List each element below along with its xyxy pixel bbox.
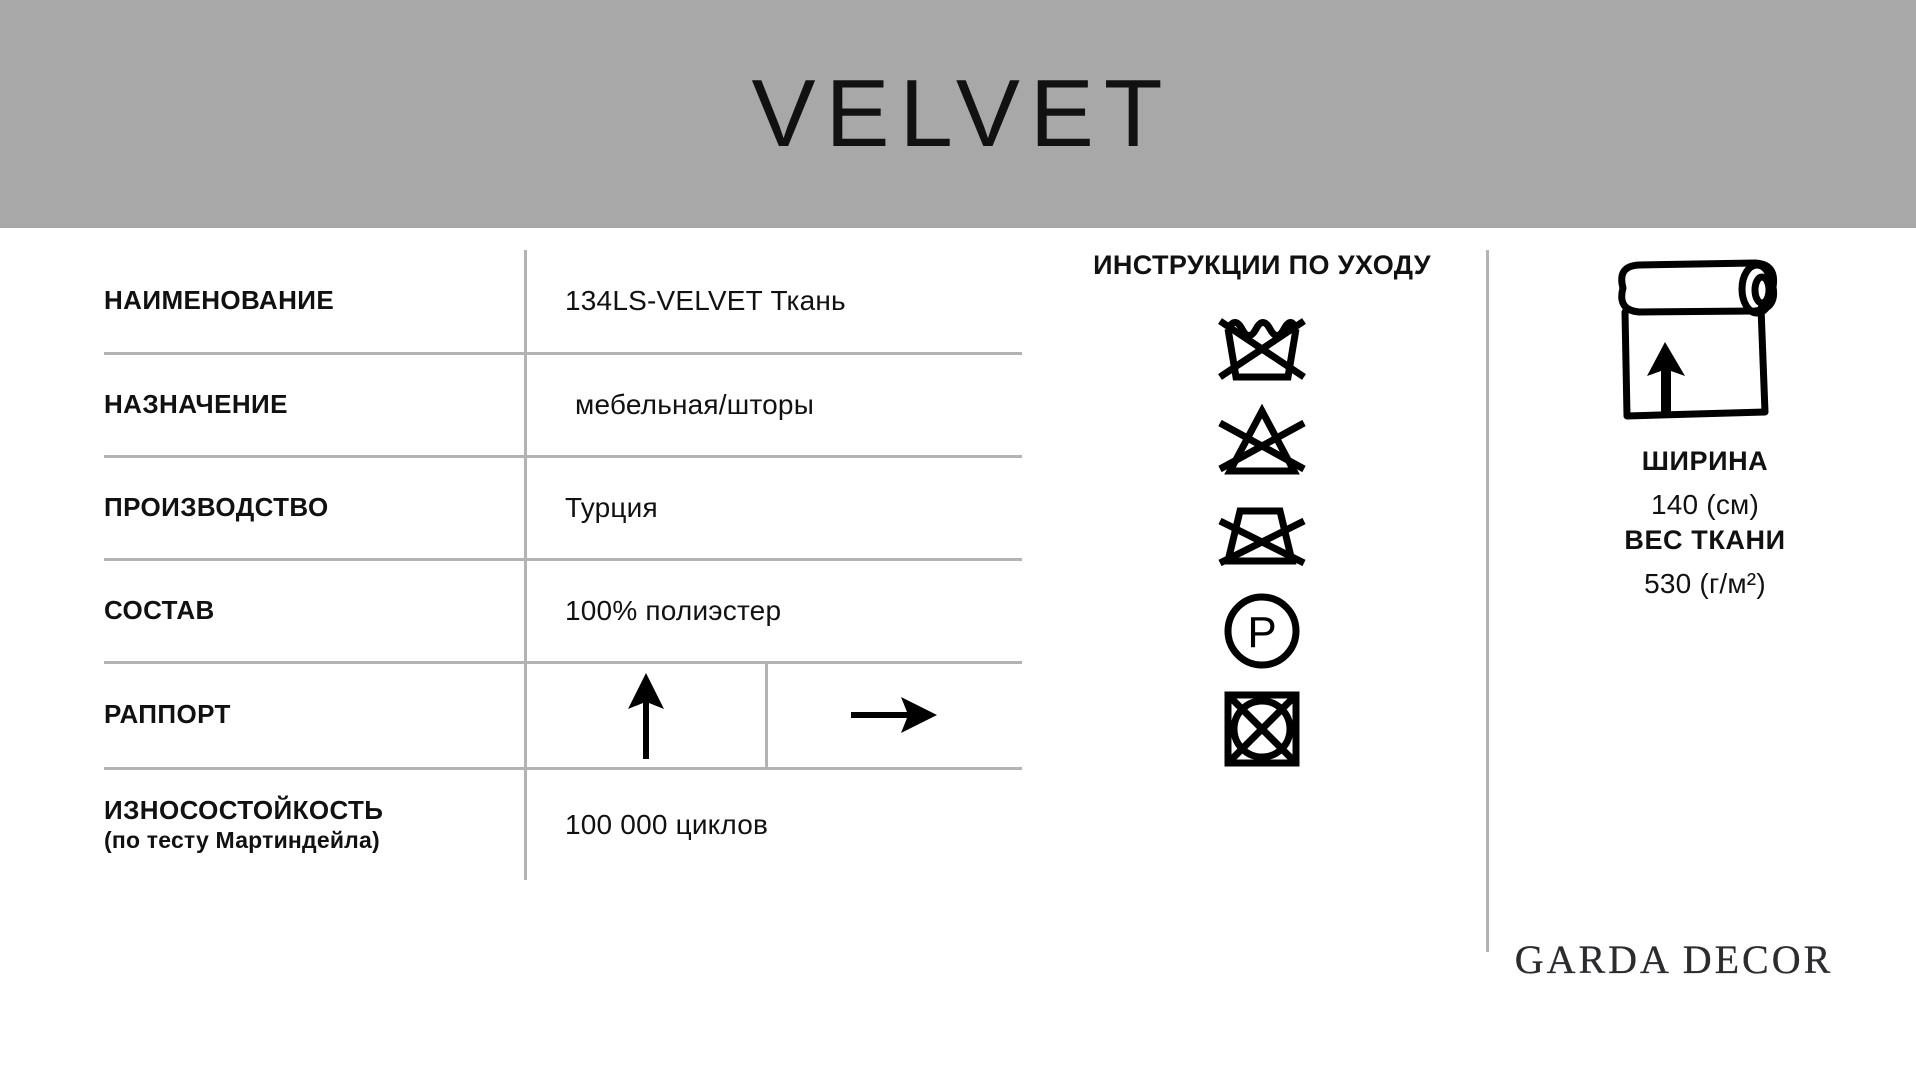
svg-text:P: P xyxy=(1247,608,1276,657)
spec-label-cell: ИЗНОСОСТОЙКОСТЬ (по тесту Мартиндейла) xyxy=(104,768,526,880)
page-title: VELVET xyxy=(743,66,1172,162)
table-row: НАИМЕНОВАНИЕ 134LS-VELVET Ткань xyxy=(104,250,1022,353)
spec-label-cell: СОСТАВ xyxy=(104,559,526,662)
table-row: СОСТАВ 100% полиэстер xyxy=(104,559,1022,662)
rapport-horizontal-cell xyxy=(768,664,1022,767)
table-row: ИЗНОСОСТОЙКОСТЬ (по тесту Мартиндейла) 1… xyxy=(104,768,1022,880)
care-symbol-list: P xyxy=(1206,307,1318,771)
spec-label: НАЗНАЧЕНИЕ xyxy=(104,389,288,419)
specification-table: НАИМЕНОВАНИЕ 134LS-VELVET Ткань НАЗНАЧЕН… xyxy=(104,250,1022,880)
spec-label: СОСТАВ xyxy=(104,595,215,625)
spec-value: 134LS-VELVET Ткань xyxy=(565,285,846,316)
dry-clean-p-icon: P xyxy=(1206,589,1318,673)
fabric-roll-block: ШИРИНА 140 (см) ВЕС ТКАНИ 530 (г/м²) xyxy=(1540,246,1870,600)
spec-label: ПРОИЗВОДСТВО xyxy=(104,492,329,522)
do-not-bleach-icon xyxy=(1206,401,1318,481)
table-row: НАЗНАЧЕНИЕ мебельная/шторы xyxy=(104,353,1022,456)
spec-value-cell xyxy=(526,662,1023,768)
spec-value-cell: 100% полиэстер xyxy=(526,559,1023,662)
rapport-cells xyxy=(527,664,1022,767)
table-row: РАППОРТ xyxy=(104,662,1022,768)
do-not-iron-icon xyxy=(1206,495,1318,575)
spec-label: РАППОРТ xyxy=(104,699,231,729)
spec-label-cell: НАИМЕНОВАНИЕ xyxy=(104,250,526,353)
spec-label-cell: РАППОРТ xyxy=(104,662,526,768)
do-not-tumble-dry-icon xyxy=(1206,687,1318,771)
spec-value: Турция xyxy=(565,492,658,523)
width-value: 140 (см) xyxy=(1651,489,1759,521)
spec-label: ИЗНОСОСТОЙКОСТЬ xyxy=(104,795,383,825)
spec-label: НАИМЕНОВАНИЕ xyxy=(104,285,334,315)
care-instructions-block: ИНСТРУКЦИИ ПО УХОДУ xyxy=(1062,250,1462,771)
weight-label: ВЕС ТКАНИ xyxy=(1624,525,1785,556)
spec-value-cell: Турция xyxy=(526,456,1023,559)
content-area: НАИМЕНОВАНИЕ 134LS-VELVET Ткань НАЗНАЧЕН… xyxy=(0,228,1916,1080)
spec-value: 100 000 циклов xyxy=(565,809,768,840)
spec-value-cell: 134LS-VELVET Ткань xyxy=(526,250,1023,353)
brand-name: GARDA DECOR xyxy=(1515,937,1834,982)
brand-logo: GARDA DECOR xyxy=(1504,936,1844,983)
width-label: ШИРИНА xyxy=(1642,446,1769,477)
spec-value-cell: 100 000 циклов xyxy=(526,768,1023,880)
section-divider xyxy=(1486,250,1489,952)
spec-label-cell: ПРОИЗВОДСТВО xyxy=(104,456,526,559)
care-instructions-title: ИНСТРУКЦИИ ПО УХОДУ xyxy=(1093,250,1431,281)
table-row: ПРОИЗВОДСТВО Турция xyxy=(104,456,1022,559)
spec-value: мебельная/шторы xyxy=(565,389,814,420)
arrow-right-icon xyxy=(849,692,941,738)
spec-value: 100% полиэстер xyxy=(565,595,781,626)
weight-value: 530 (г/м²) xyxy=(1644,568,1766,600)
arrow-up-icon xyxy=(623,669,669,761)
spec-value-cell: мебельная/шторы xyxy=(526,353,1023,456)
header-banner: VELVET xyxy=(0,0,1916,228)
spec-sublabel: (по тесту Мартиндейла) xyxy=(104,827,510,854)
spec-label-cell: НАЗНАЧЕНИЕ xyxy=(104,353,526,456)
do-not-wash-icon xyxy=(1206,307,1318,387)
rapport-vertical-cell xyxy=(527,664,768,767)
fabric-roll-icon xyxy=(1605,246,1805,426)
